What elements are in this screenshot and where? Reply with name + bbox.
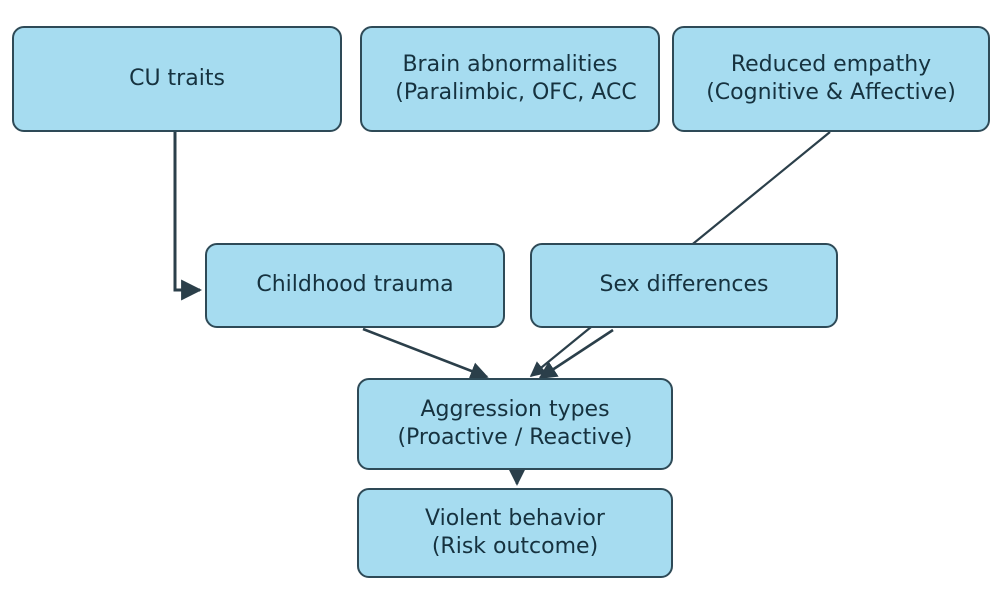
node-childhood-trauma-label-line1: Childhood trauma [256, 271, 453, 299]
node-sex-differences[interactable]: Sex differences [530, 243, 838, 328]
node-violent-behavior[interactable]: Violent behavior (Risk outcome) [357, 488, 673, 578]
node-violent-behavior-label-line2: (Risk outcome) [432, 533, 598, 561]
node-aggression-types-label-line2: (Proactive / Reactive) [397, 424, 632, 452]
node-reduced-empathy-label-line1: Reduced empathy [731, 51, 931, 79]
flow-diagram: CU traits Brain abnormalities (Paralimbi… [0, 0, 1000, 595]
node-brain-abnormalities-label-line2: (Paralimbic, OFC, ACC [395, 79, 636, 107]
node-aggression-types-label-line1: Aggression types [420, 396, 609, 424]
edge-childhood-trauma-to-aggression-types [363, 329, 487, 377]
node-cu-traits[interactable]: CU traits [12, 26, 342, 132]
node-reduced-empathy[interactable]: Reduced empathy (Cognitive & Affective) [672, 26, 990, 132]
edge-sex-differences-to-aggression-types [540, 330, 613, 378]
node-brain-abnormalities[interactable]: Brain abnormalities (Paralimbic, OFC, AC… [360, 26, 660, 132]
edge-cu-traits-to-childhood-trauma [175, 132, 200, 290]
node-cu-traits-label-line1: CU traits [129, 65, 225, 93]
node-violent-behavior-label-line1: Violent behavior [425, 505, 605, 533]
node-sex-differences-label-line1: Sex differences [599, 271, 768, 299]
node-aggression-types[interactable]: Aggression types (Proactive / Reactive) [357, 378, 673, 470]
node-brain-abnormalities-label-line1: Brain abnormalities [402, 51, 617, 79]
node-childhood-trauma[interactable]: Childhood trauma [205, 243, 505, 328]
node-reduced-empathy-label-line2: (Cognitive & Affective) [706, 79, 956, 107]
